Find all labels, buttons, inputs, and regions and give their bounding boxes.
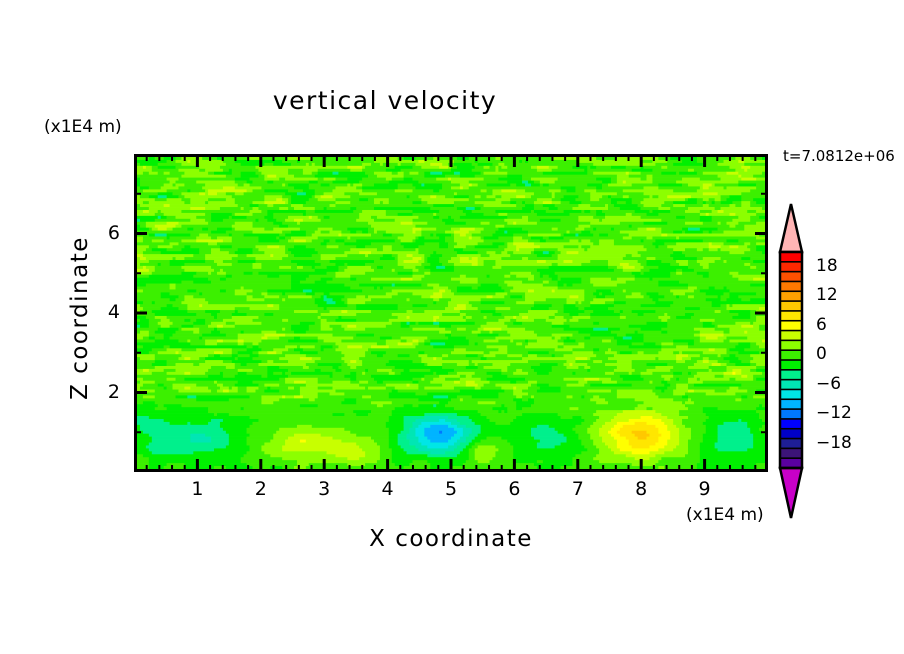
y-axis-unit-label: (x1E4 m) [44,117,122,137]
x-tick-label: 8 [626,478,656,500]
colorbar-tick-label: −12 [816,403,852,423]
page-title: vertical velocity [0,86,770,115]
y-tick-label: 2 [98,381,120,403]
x-tick-label: 5 [436,478,466,500]
x-axis-title: X coordinate [134,526,768,552]
x-tick-label: 6 [499,478,529,500]
colorbar-tick-label: 6 [816,315,827,335]
contour-field [137,157,765,469]
y-tick-label: 6 [98,222,120,244]
colorbar-tick-label: −6 [816,374,841,394]
x-tick-label: 2 [246,478,276,500]
x-tick-label: 7 [563,478,593,500]
x-tick-label: 1 [182,478,212,500]
colorbar-tick-label: −18 [816,433,852,453]
contour-plot-area [134,154,768,472]
y-tick-label: 4 [98,301,120,323]
colorbar-tick-label: 0 [816,344,827,364]
y-axis-title: Z coordinate [67,208,93,428]
x-tick-label: 9 [690,478,720,500]
colorbar-tick-label: 18 [816,256,838,276]
x-tick-label: 3 [309,478,339,500]
figure-root: vertical velocity (x1E4 m) (x1E4 m) t=7.… [0,0,904,654]
time-annotation: t=7.0812e+06 [783,147,895,165]
x-axis-unit-label: (x1E4 m) [686,505,764,525]
colorbar-tick-label: 12 [816,285,838,305]
x-tick-label: 4 [373,478,403,500]
